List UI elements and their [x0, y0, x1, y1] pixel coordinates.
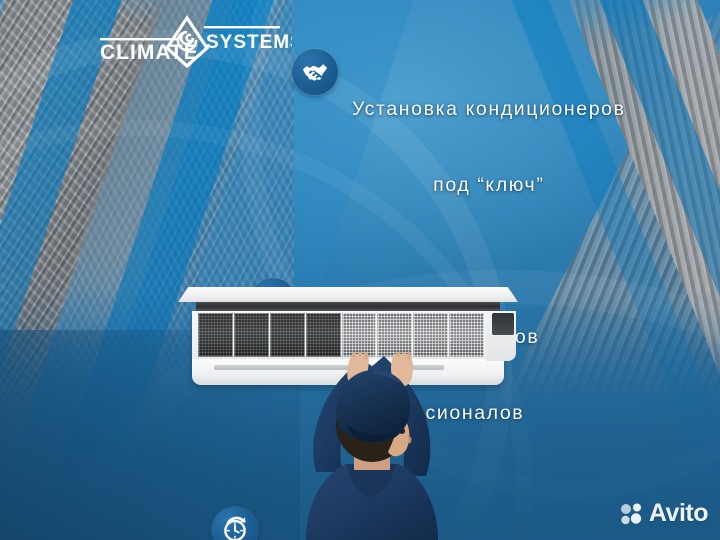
- ac-filter-cell: [413, 313, 448, 357]
- feature-item: Установка кондиционеров под “ключ”: [0, 46, 700, 249]
- ac-filter-grid: [198, 313, 484, 357]
- ac-filter-cell: [306, 313, 341, 357]
- feature-text: Установка кондиционеров под “ключ”: [352, 46, 626, 249]
- ac-filter-cell: [270, 313, 305, 357]
- ac-filter-cell: [377, 313, 412, 357]
- ac-filter-cell: [234, 313, 269, 357]
- ac-filter-cell: [449, 313, 484, 357]
- avito-watermark: Avito: [620, 499, 708, 528]
- avito-label: Avito: [649, 499, 708, 528]
- ac-control-module: [492, 313, 514, 335]
- ac-filter-cell: [342, 313, 377, 357]
- advertisement-banner: CLIMATE SYSTEMS Установка кондиционеров …: [0, 0, 720, 540]
- handshake-icon: [292, 49, 338, 95]
- avito-dots-icon: [620, 502, 644, 526]
- technician-photo: [250, 352, 490, 540]
- ac-open-front-panel: [178, 287, 518, 302]
- feature-line-1: Установка кондиционеров: [352, 97, 626, 122]
- feature-line-2: под “ключ”: [352, 173, 626, 198]
- ac-filter-cell: [198, 313, 233, 357]
- ac-vent-strip: [196, 302, 500, 311]
